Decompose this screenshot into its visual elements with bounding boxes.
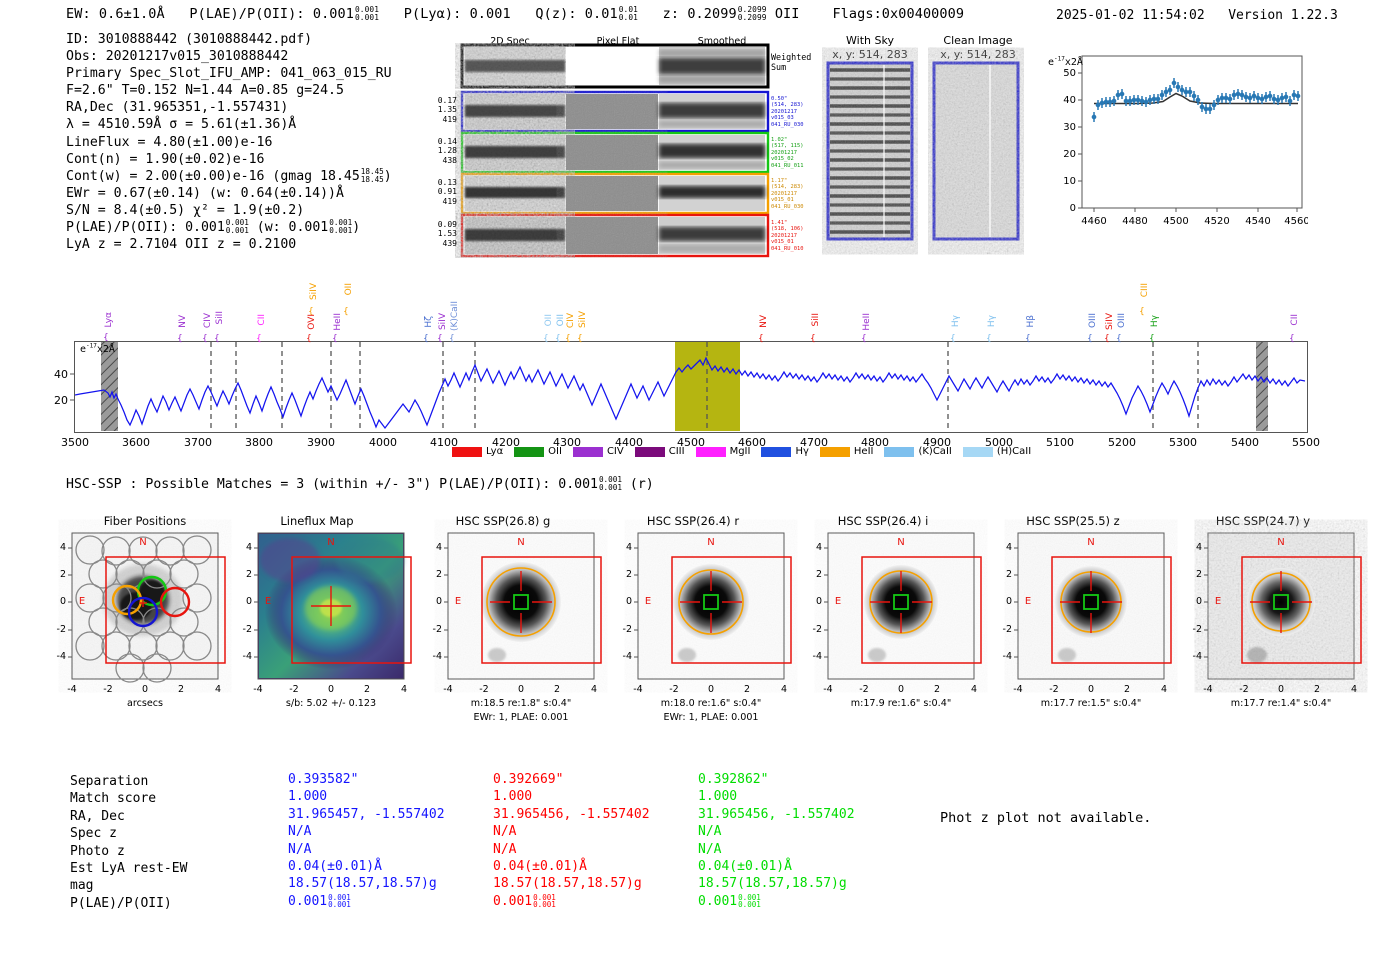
col0-photo-z: N/A (288, 841, 445, 858)
hsc-y-image (1209, 534, 1361, 678)
cut6-xtick-2: 2 (1314, 684, 1320, 695)
cut0-xtick-2: 2 (178, 684, 184, 695)
cut5-ytick-m2: -2 (994, 624, 1012, 635)
cut6-xtick-4: 4 (1351, 684, 1357, 695)
col0-spec-z: N/A (288, 823, 445, 840)
cut1-ytick-m2: -2 (234, 624, 252, 635)
cutout-caption-3: m:18.0 re:1.6" s:0.4" (626, 698, 796, 709)
col2-match-score: 1.000 (698, 788, 855, 805)
cut6-ytick-2: 2 (1190, 569, 1202, 580)
cutout-caption-2b: EWr: 1, PLAE: 0.001 (436, 712, 606, 723)
cut5-ytick-4: 4 (1000, 542, 1012, 553)
col1-mag: 18.57(18.57,18.57)g (493, 875, 650, 892)
cut3-ytick-2: 2 (620, 569, 632, 580)
cut1-xtick-m2: -2 (289, 684, 298, 695)
cut0-ytick-m4: -4 (48, 651, 66, 662)
compass-e-4: E (835, 596, 841, 607)
col2-plae-lo: 0.001 (738, 900, 761, 909)
compass-n-0: N (139, 537, 146, 548)
cut0-ytick-0: 0 (54, 596, 66, 607)
cut6-xtick-0: 0 (1278, 684, 1284, 695)
cutout-caption-1: s/b: 5.02 +/- 0.123 (246, 698, 416, 709)
cut1-xtick-2: 2 (364, 684, 370, 695)
cut3-xtick-m2: -2 (669, 684, 678, 695)
compass-e-2: E (455, 596, 461, 607)
col2-photo-z: N/A (698, 841, 855, 858)
col1-plae: 0.0010.0010.001 (493, 893, 650, 910)
table-row-label-2: RA, Dec (70, 808, 187, 825)
hsc-i-image (829, 534, 981, 678)
cut1-xtick-m4: -4 (253, 684, 262, 695)
cut2-ytick-m2: -2 (424, 624, 442, 635)
fiber-positions-image (73, 534, 225, 682)
cut2-ytick-0: 0 (430, 596, 442, 607)
cut4-ytick-m2: -2 (804, 624, 822, 635)
col1-radec: 31.965456, -1.557402 (493, 806, 650, 823)
cut1-ytick-4: 4 (240, 542, 252, 553)
cut0-xtick-4: 4 (215, 684, 221, 695)
cut3-ytick-m2: -2 (614, 624, 632, 635)
col2-plae-val: 0.001 (698, 894, 737, 909)
col1-est-ew: 0.04(±0.01)Å (493, 858, 650, 875)
cut5-ytick-0: 0 (1000, 596, 1012, 607)
table-row-label-0: Separation (70, 773, 187, 790)
compass-e-0: E (79, 596, 85, 607)
cut2-xtick-2: 2 (554, 684, 560, 695)
cut5-xtick-2: 2 (1124, 684, 1130, 695)
col0-match-score: 1.000 (288, 788, 445, 805)
table-column-blue: 0.393582" 1.000 31.965457, -1.557402 N/A… (288, 771, 445, 910)
col1-separation: 0.392669" (493, 771, 650, 788)
cut4-ytick-m4: -4 (804, 651, 822, 662)
compass-n-3: N (707, 537, 714, 548)
col2-est-ew: 0.04(±0.01)Å (698, 858, 855, 875)
table-column-red: 0.392669" 1.000 31.965456, -1.557402 N/A… (493, 771, 650, 910)
table-row-label-3: Spec z (70, 825, 187, 842)
compass-e-1: E (265, 596, 271, 607)
cut6-ytick-m4: -4 (1184, 651, 1202, 662)
compass-n-5: N (1087, 537, 1094, 548)
cut5-xtick-m2: -2 (1049, 684, 1058, 695)
cut0-xtick-m4: -4 (67, 684, 76, 695)
cut3-xtick-2: 2 (744, 684, 750, 695)
cut4-ytick-4: 4 (810, 542, 822, 553)
cut4-xtick-2: 2 (934, 684, 940, 695)
col1-plae-lo: 0.001 (533, 900, 556, 909)
compass-n-6: N (1277, 537, 1284, 548)
cut3-xtick-m4: -4 (633, 684, 642, 695)
cut1-xtick-0: 0 (328, 684, 334, 695)
cut1-ytick-m4: -4 (234, 651, 252, 662)
compass-e-5: E (1025, 596, 1031, 607)
cut1-ytick-2: 2 (240, 569, 252, 580)
compass-n-4: N (897, 537, 904, 548)
cut6-ytick-0: 0 (1190, 596, 1202, 607)
hsc-r-image (639, 534, 791, 678)
cut4-ytick-2: 2 (810, 569, 822, 580)
cut6-ytick-m2: -2 (1184, 624, 1202, 635)
cut2-xtick-0: 0 (518, 684, 524, 695)
cutout-caption-4: m:17.9 re:1.6" s:0.4" (816, 698, 986, 709)
table-row-label-7: P(LAE)/P(OII) (70, 895, 187, 912)
hsc-g-image (449, 534, 601, 678)
cut0-xtick-0: 0 (142, 684, 148, 695)
cut5-ytick-m4: -4 (994, 651, 1012, 662)
cut5-xtick-0: 0 (1088, 684, 1094, 695)
cut6-ytick-4: 4 (1190, 542, 1202, 553)
col2-separation: 0.392862" (698, 771, 855, 788)
cut4-xtick-m4: -4 (823, 684, 832, 695)
col2-spec-z: N/A (698, 823, 855, 840)
col0-plae: 0.0010.0010.001 (288, 893, 445, 910)
cut3-xtick-4: 4 (781, 684, 787, 695)
table-column-green: 0.392862" 1.000 31.965456, -1.557402 N/A… (698, 771, 855, 910)
col0-separation: 0.393582" (288, 771, 445, 788)
cutout-caption-3b: EWr: 1, PLAE: 0.001 (626, 712, 796, 723)
cut2-xtick-m2: -2 (479, 684, 488, 695)
cutout-caption-0: arcsecs (60, 698, 230, 709)
col0-plae-val: 0.001 (288, 894, 327, 909)
cutout-caption-5: m:17.7 re:1.5" s:0.4" (1006, 698, 1176, 709)
compass-e-3: E (645, 596, 651, 607)
cut3-ytick-m4: -4 (614, 651, 632, 662)
col1-spec-z: N/A (493, 823, 650, 840)
col1-match-score: 1.000 (493, 788, 650, 805)
col0-est-ew: 0.04(±0.01)Å (288, 858, 445, 875)
cut2-ytick-4: 4 (430, 542, 442, 553)
cut3-ytick-0: 0 (620, 596, 632, 607)
photoz-unavailable-message: Phot z plot not available. (940, 810, 1151, 826)
lineflux-map-image (259, 534, 411, 678)
table-row-label-1: Match score (70, 790, 187, 807)
cut6-xtick-m2: -2 (1239, 684, 1248, 695)
cutout-caption-6: m:17.7 re:1.4" s:0.4" (1196, 698, 1366, 709)
table-row-label-6: mag (70, 877, 187, 894)
matches-table: Separation Match score RA, Dec Spec z Ph… (70, 773, 187, 912)
col0-radec: 31.965457, -1.557402 (288, 806, 445, 823)
cut2-xtick-4: 4 (591, 684, 597, 695)
cut4-ytick-0: 0 (810, 596, 822, 607)
table-row-label-4: Photo z (70, 843, 187, 860)
cut1-ytick-0: 0 (240, 596, 252, 607)
col1-photo-z: N/A (493, 841, 650, 858)
cut2-ytick-m4: -4 (424, 651, 442, 662)
col0-mag: 18.57(18.57,18.57)g (288, 875, 445, 892)
col0-plae-lo: 0.001 (328, 900, 351, 909)
cut3-xtick-0: 0 (708, 684, 714, 695)
hsc-z-image (1019, 534, 1171, 678)
cut4-xtick-4: 4 (971, 684, 977, 695)
cutout-caption-2: m:18.5 re:1.8" s:0.4" (436, 698, 606, 709)
cut4-xtick-0: 0 (898, 684, 904, 695)
cut4-xtick-m2: -2 (859, 684, 868, 695)
cut0-ytick-m2: -2 (48, 624, 66, 635)
table-row-label-5: Est LyA rest-EW (70, 860, 187, 877)
compass-n-1: N (327, 537, 334, 548)
cut1-xtick-4: 4 (401, 684, 407, 695)
cut0-ytick-4: 4 (54, 542, 66, 553)
cut3-ytick-4: 4 (620, 542, 632, 553)
cut2-ytick-2: 2 (430, 569, 442, 580)
col2-radec: 31.965456, -1.557402 (698, 806, 855, 823)
compass-n-2: N (517, 537, 524, 548)
col1-plae-val: 0.001 (493, 894, 532, 909)
col2-plae: 0.0010.0010.001 (698, 893, 855, 910)
cut6-xtick-m4: -4 (1203, 684, 1212, 695)
cut2-xtick-m4: -4 (443, 684, 452, 695)
cut5-ytick-2: 2 (1000, 569, 1012, 580)
cut0-xtick-m2: -2 (103, 684, 112, 695)
compass-e-6: E (1215, 596, 1221, 607)
cut0-ytick-2: 2 (54, 569, 66, 580)
cut5-xtick-m4: -4 (1013, 684, 1022, 695)
cut5-xtick-4: 4 (1161, 684, 1167, 695)
col2-mag: 18.57(18.57,18.57)g (698, 875, 855, 892)
